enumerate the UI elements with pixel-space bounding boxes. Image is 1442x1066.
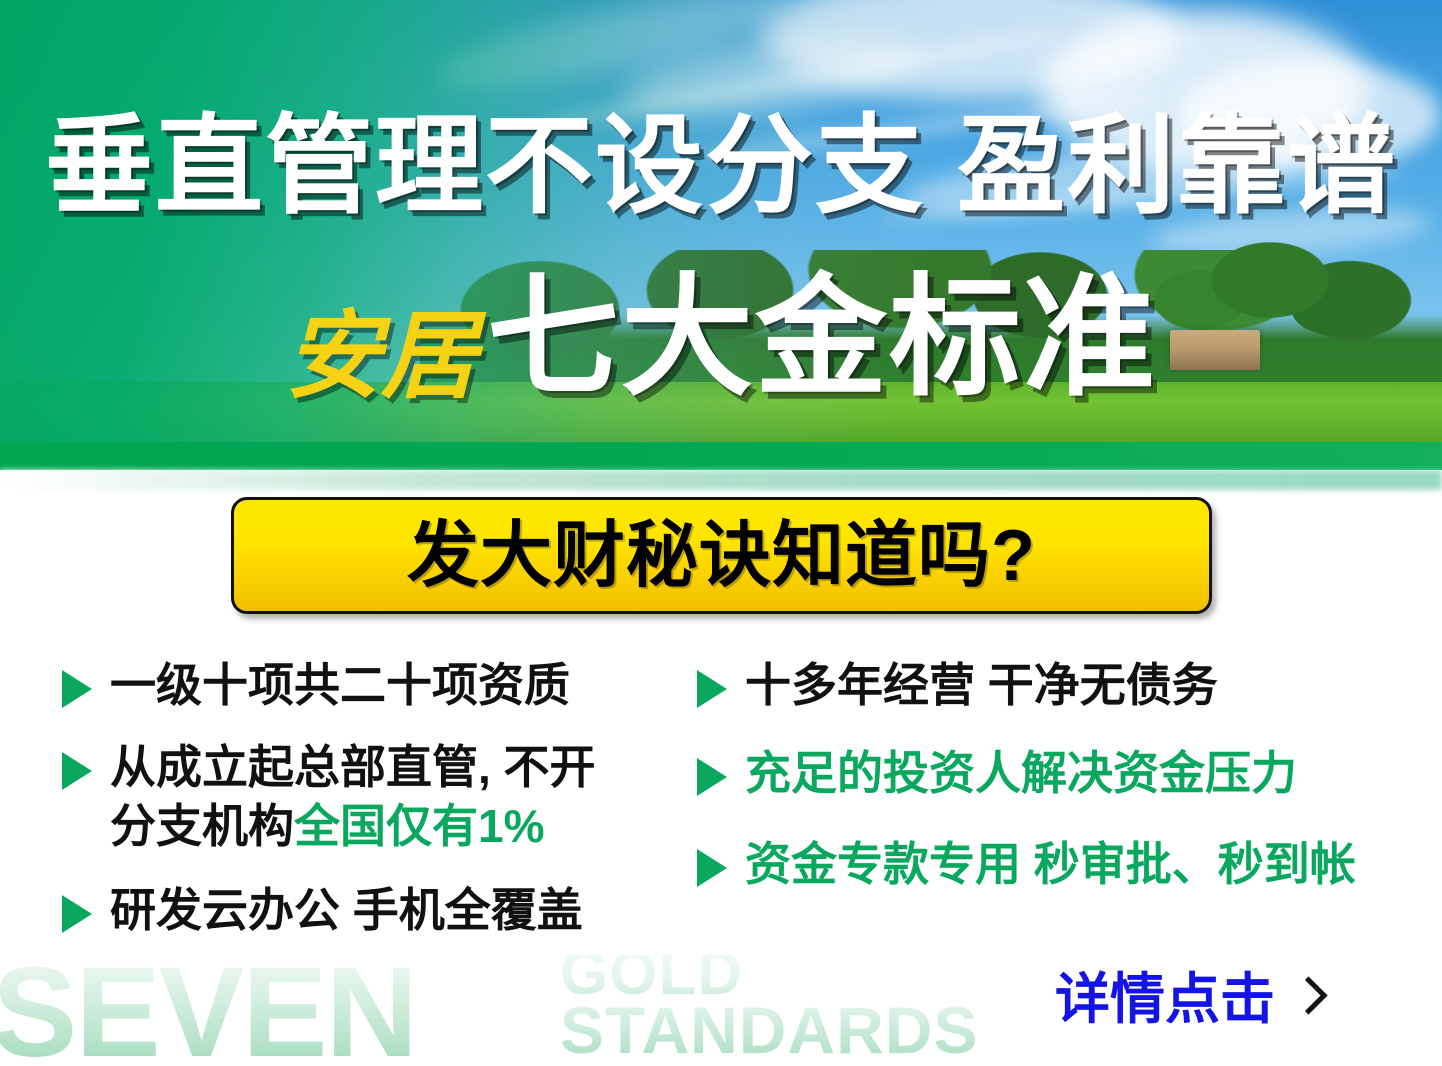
watermark-standards: STANDARDS — [560, 997, 978, 1063]
hero-banner: 垂直管理不设分支 盈利靠谱 安居七大金标准 — [0, 0, 1442, 470]
feature-column-right: 十多年经营 干净无债务 充足的投资人解决资金压力 资金专款专用 秒审批、秒到帐 — [697, 640, 1407, 903]
headline-banner: 发大财秘诀知道吗? — [231, 497, 1212, 614]
feature-column-left: 一级十项共二十项资质 从成立起总部直管, 不开 分支机构全国仅有1% 研发云办公… — [62, 640, 682, 950]
hero-bottom-band — [0, 442, 1442, 470]
feature-line: 资金专款专用 秒审批、秒到帐 — [745, 835, 1407, 893]
advertisement-poster: 垂直管理不设分支 盈利靠谱 安居七大金标准 发大财秘诀知道吗? SEVEN GO… — [0, 0, 1442, 1066]
feature-line: 十多年经营 干净无债务 — [745, 656, 1407, 714]
triangle-bullet-icon — [62, 895, 92, 933]
feature-line: 充足的投资人解决资金压力 — [745, 744, 1407, 802]
feature-item-direct-management: 从成立起总部直管, 不开 分支机构全国仅有1% — [62, 738, 682, 855]
triangle-bullet-icon — [62, 670, 92, 708]
feature-item-qualifications: 一级十项共二十项资质 — [62, 656, 682, 714]
cta-details-link[interactable]: 详情点击 — [1055, 972, 1319, 1027]
triangle-bullet-icon — [697, 758, 727, 796]
feature-line: 分支机构全国仅有1% — [110, 797, 682, 855]
feature-item-body: 充足的投资人解决资金压力 — [745, 744, 1407, 802]
feature-item-investors: 充足的投资人解决资金压力 — [697, 744, 1407, 802]
feature-item-body: 一级十项共二十项资质 — [110, 656, 682, 714]
triangle-bullet-icon — [697, 849, 727, 887]
hero-subtitle: 安居七大金标准 — [0, 272, 1442, 404]
feature-item-funds: 资金专款专用 秒审批、秒到帐 — [697, 835, 1407, 893]
feature-line: 一级十项共二十项资质 — [110, 656, 682, 714]
feature-item-body: 从成立起总部直管, 不开 分支机构全国仅有1% — [110, 738, 682, 855]
headline-banner-text: 发大财秘诀知道吗? — [407, 520, 1036, 592]
feature-line: 研发云办公 手机全覆盖 — [110, 881, 682, 939]
feature-item-body: 十多年经营 干净无债务 — [745, 656, 1407, 714]
chevron-right-icon[interactable] — [1293, 978, 1319, 1022]
feature-line: 从成立起总部直管, 不开 — [110, 738, 682, 796]
cta-label[interactable]: 详情点击 — [1055, 972, 1275, 1027]
hero-fade-edge — [0, 470, 1442, 490]
feature-line-highlight: 全国仅有1% — [294, 800, 544, 852]
hero-subtitle-brand: 安居 — [285, 299, 477, 412]
feature-item-body: 资金专款专用 秒审批、秒到帐 — [745, 835, 1407, 893]
hero-headline: 垂直管理不设分支 盈利靠谱 — [0, 112, 1442, 220]
feature-item-cloud-office: 研发云办公 手机全覆盖 — [62, 881, 682, 939]
hero-subtitle-main: 七大金标准 — [487, 264, 1157, 411]
triangle-bullet-icon — [697, 670, 727, 708]
feature-line-text: 分支机构 — [110, 800, 294, 852]
feature-item-experience: 十多年经营 干净无债务 — [697, 656, 1407, 714]
feature-item-body: 研发云办公 手机全覆盖 — [110, 881, 682, 939]
feature-list: 一级十项共二十项资质 从成立起总部直管, 不开 分支机构全国仅有1% 研发云办公… — [0, 640, 1442, 980]
triangle-bullet-icon — [62, 752, 92, 790]
